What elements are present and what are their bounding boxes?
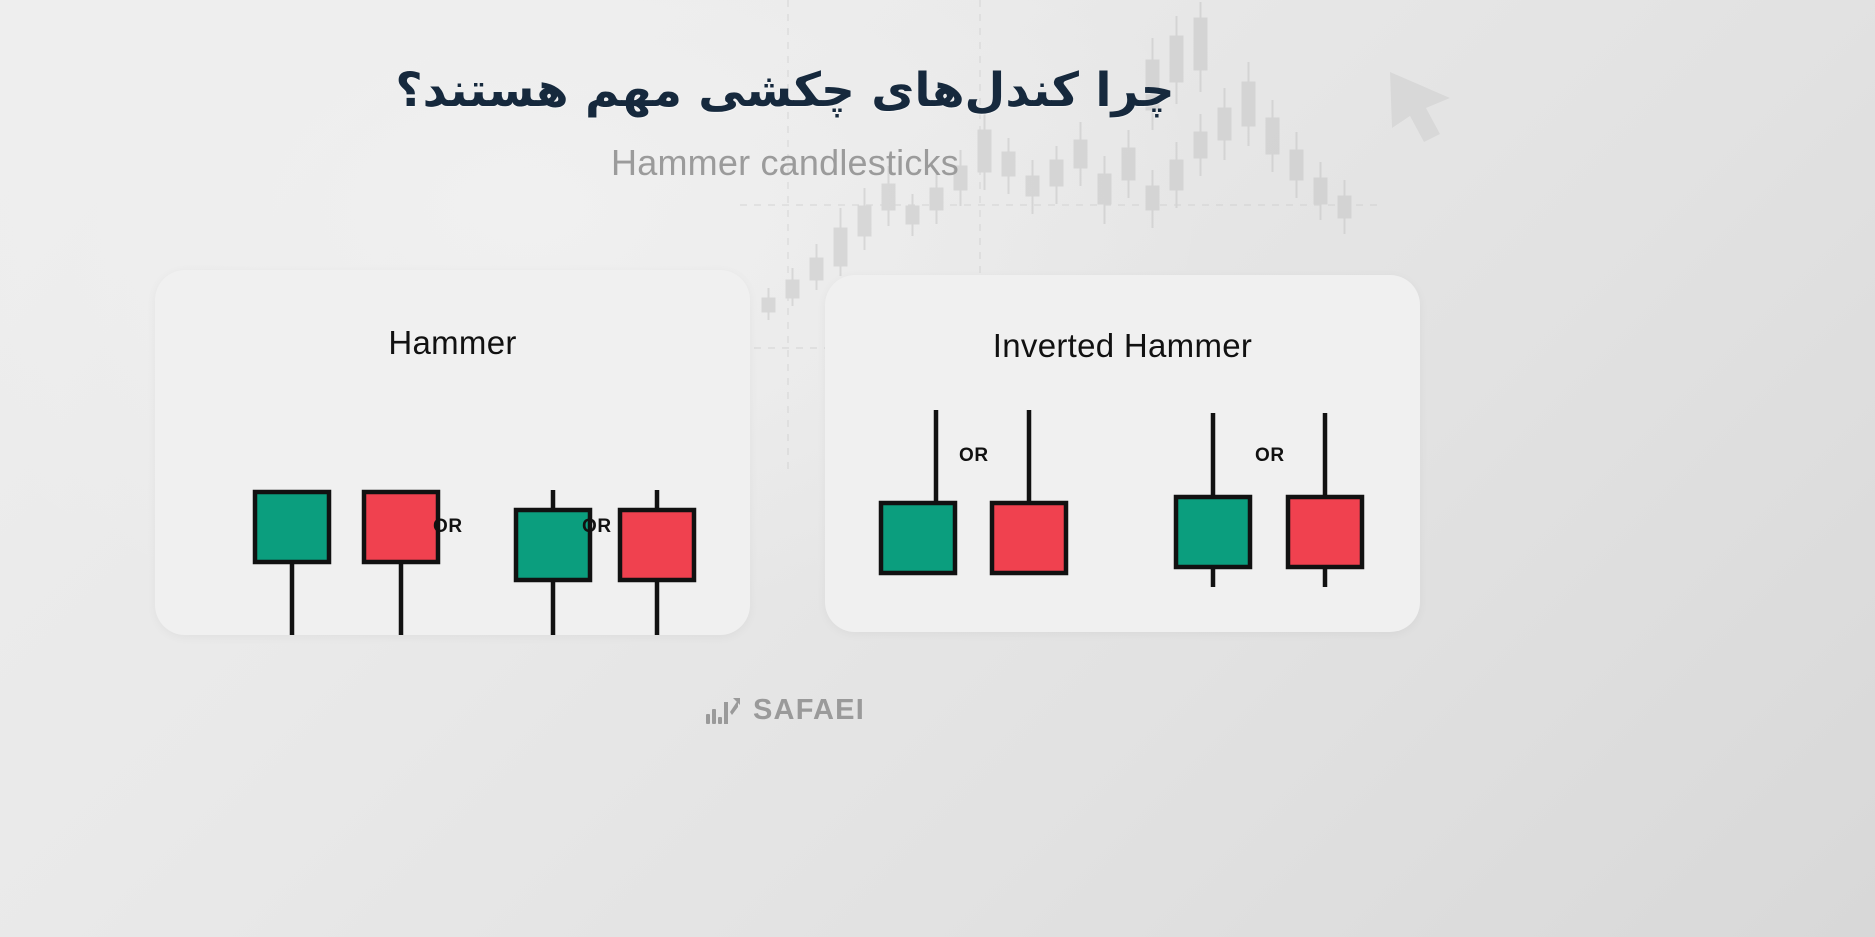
or-label-hammer-1: OR bbox=[433, 516, 463, 538]
or-label-inverted-1: OR bbox=[959, 445, 989, 467]
or-label-inverted-2: OR bbox=[1255, 445, 1285, 467]
hammer-candles-group bbox=[155, 270, 750, 635]
or-label-hammer-2: OR bbox=[582, 516, 612, 538]
footer-brand: SAFAEI bbox=[0, 694, 1570, 727]
page-subtitle: Hammer candlesticks bbox=[0, 142, 1570, 184]
inverted-hammer-candles-group bbox=[825, 275, 1420, 632]
brand-name: SAFAEI bbox=[753, 694, 865, 727]
poster-canvas: چرا کندل‌های چکشی مهم هستند؟ Hammer cand… bbox=[0, 0, 1875, 937]
chart-bars-arrow-icon bbox=[705, 696, 741, 726]
card-inverted-hammer: Inverted Hammer OR OR bbox=[825, 275, 1420, 632]
card-hammer: Hammer OR OR bbox=[155, 270, 750, 635]
page-title: چرا کندل‌های چکشی مهم هستند؟ bbox=[0, 62, 1570, 121]
